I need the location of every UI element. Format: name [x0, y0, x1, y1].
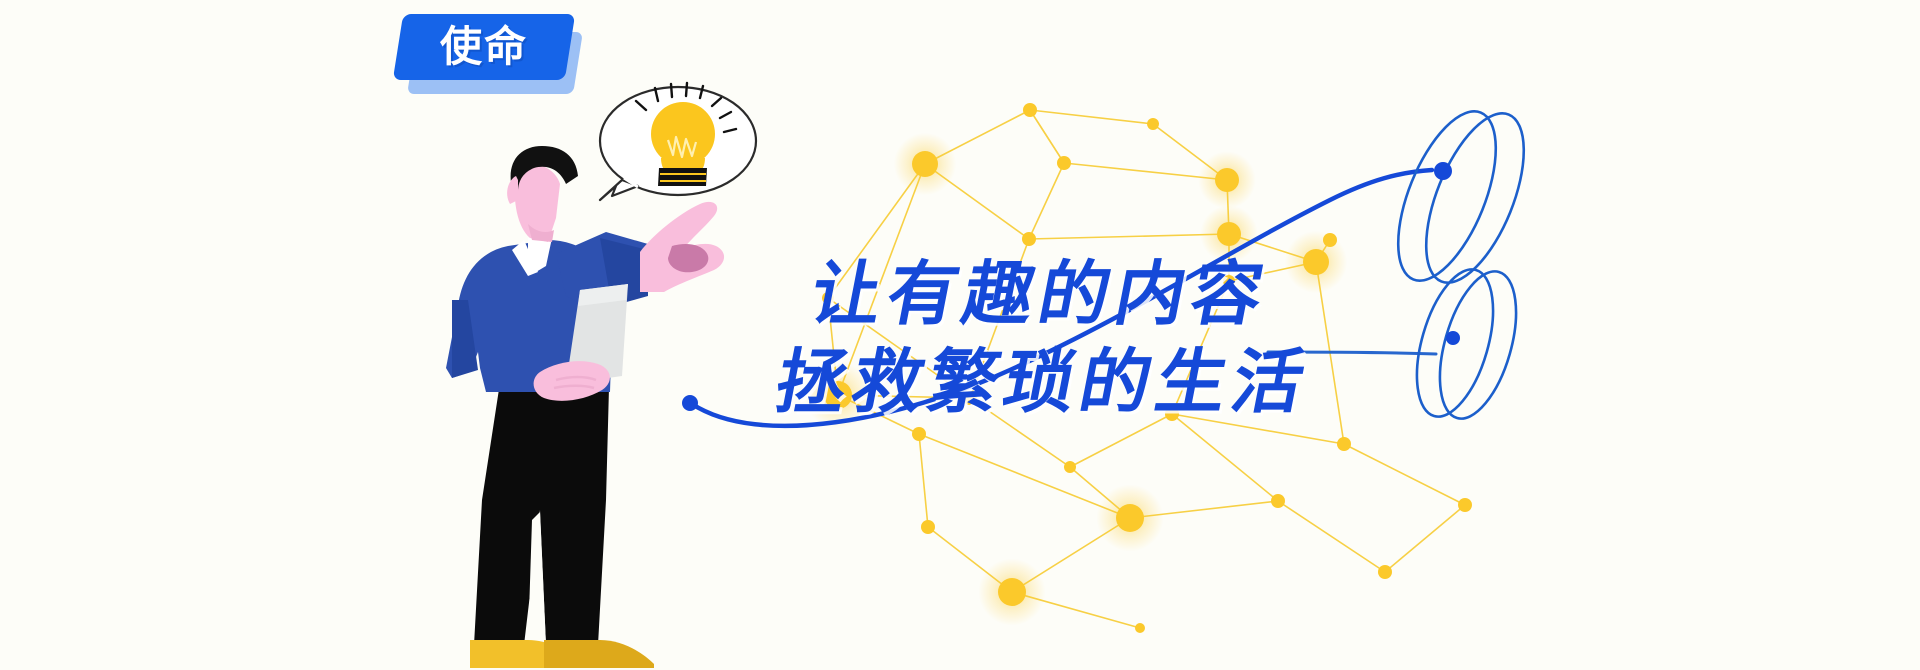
- hero-banner: 使命 让有趣的内容 拯救繁琐的生活: [0, 0, 1920, 670]
- mission-badge[interactable]: 使命: [398, 14, 583, 100]
- headline-block: 让有趣的内容 拯救繁琐的生活: [812, 250, 1309, 426]
- headline-line-1: 让有趣的内容: [803, 250, 1317, 338]
- mission-badge-label: 使命: [440, 26, 528, 68]
- headline-line-2: 拯救繁琐的生活: [768, 338, 1317, 426]
- mission-badge-body[interactable]: 使命: [393, 14, 575, 80]
